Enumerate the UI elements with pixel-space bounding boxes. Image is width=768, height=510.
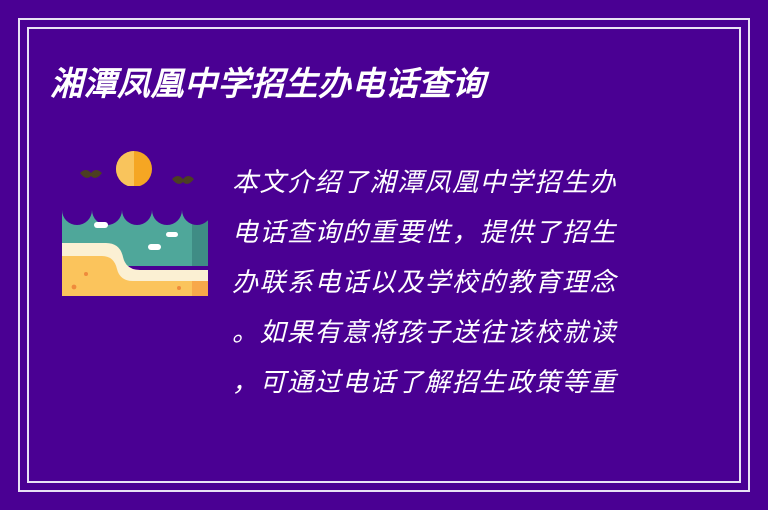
summary-line: 电话查询的重要性，提供了招生 bbox=[232, 208, 660, 258]
poster-canvas: 湘潭凤凰中学招生办电话查询 bbox=[0, 0, 768, 510]
summary-line: 本文介绍了湘潭凤凰中学招生办 bbox=[232, 158, 660, 208]
beach-sunset-illustration bbox=[62, 146, 208, 296]
summary-line: 办联系电话以及学校的教育理念 bbox=[232, 258, 660, 308]
summary-line: 。如果有意将孩子送往该校就读 bbox=[232, 308, 660, 358]
article-summary: 本文介绍了湘潭凤凰中学招生办 电话查询的重要性，提供了招生 办联系电话以及学校的… bbox=[232, 158, 660, 408]
page-title: 湘潭凤凰中学招生办电话查询 bbox=[50, 64, 710, 104]
summary-line: ，可通过电话了解招生政策等重 bbox=[232, 358, 660, 408]
